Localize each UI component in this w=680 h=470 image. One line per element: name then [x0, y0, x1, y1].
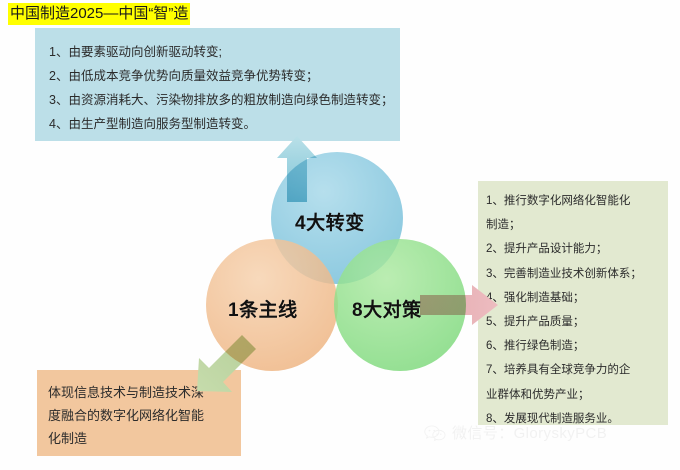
panel-green-line: 3、完善制造业技术创新体系；: [486, 262, 662, 286]
panel-blue-line: 2、由低成本竞争优势向质量效益竞争优势转变；: [49, 64, 390, 88]
page-title: 中国制造2025—中国“智”造: [8, 3, 190, 25]
venn-label-left: 1条主线: [228, 295, 298, 322]
watermark: 微信号：GloryskyPCB: [424, 422, 607, 443]
panel-green-line: 制造；: [486, 213, 662, 237]
panel-green-line: 2、提升产品设计能力；: [486, 237, 662, 261]
venn-label-right: 8大对策: [352, 295, 422, 322]
watermark-text: 微信号：GloryskyPCB: [452, 422, 607, 443]
panel-green-line: 7、培养具有全球竞争力的企: [486, 358, 662, 382]
wechat-icon: [424, 424, 446, 442]
venn-diagram: 4大转变 1条主线 8大对策: [180, 130, 510, 410]
panel-green-line: 1、推行数字化网络化智能化: [486, 189, 662, 213]
panel-blue-line: 1、由要素驱动向创新驱动转变;: [49, 40, 390, 64]
panel-green-line: 6、推行绿色制造；: [486, 334, 662, 358]
panel-four-transformations: 1、由要素驱动向创新驱动转变; 2、由低成本竞争优势向质量效益竞争优势转变； 3…: [35, 28, 400, 141]
slide-canvas: 中国制造2025—中国“智”造 1、由要素驱动向创新驱动转变; 2、由低成本竞争…: [0, 0, 680, 470]
panel-blue-line: 3、由资源消耗大、污染物排放多的粗放制造向绿色制造转变；: [49, 88, 390, 112]
panel-orange-line: 化制造: [48, 427, 233, 450]
venn-label-top: 4大转变: [295, 208, 365, 235]
panel-green-line: 5、提升产品质量；: [486, 310, 662, 334]
panel-green-line: 4、强化制造基础；: [486, 286, 662, 310]
panel-green-line: 业群体和优势产业；: [486, 383, 662, 407]
venn-graphic: [180, 130, 510, 410]
